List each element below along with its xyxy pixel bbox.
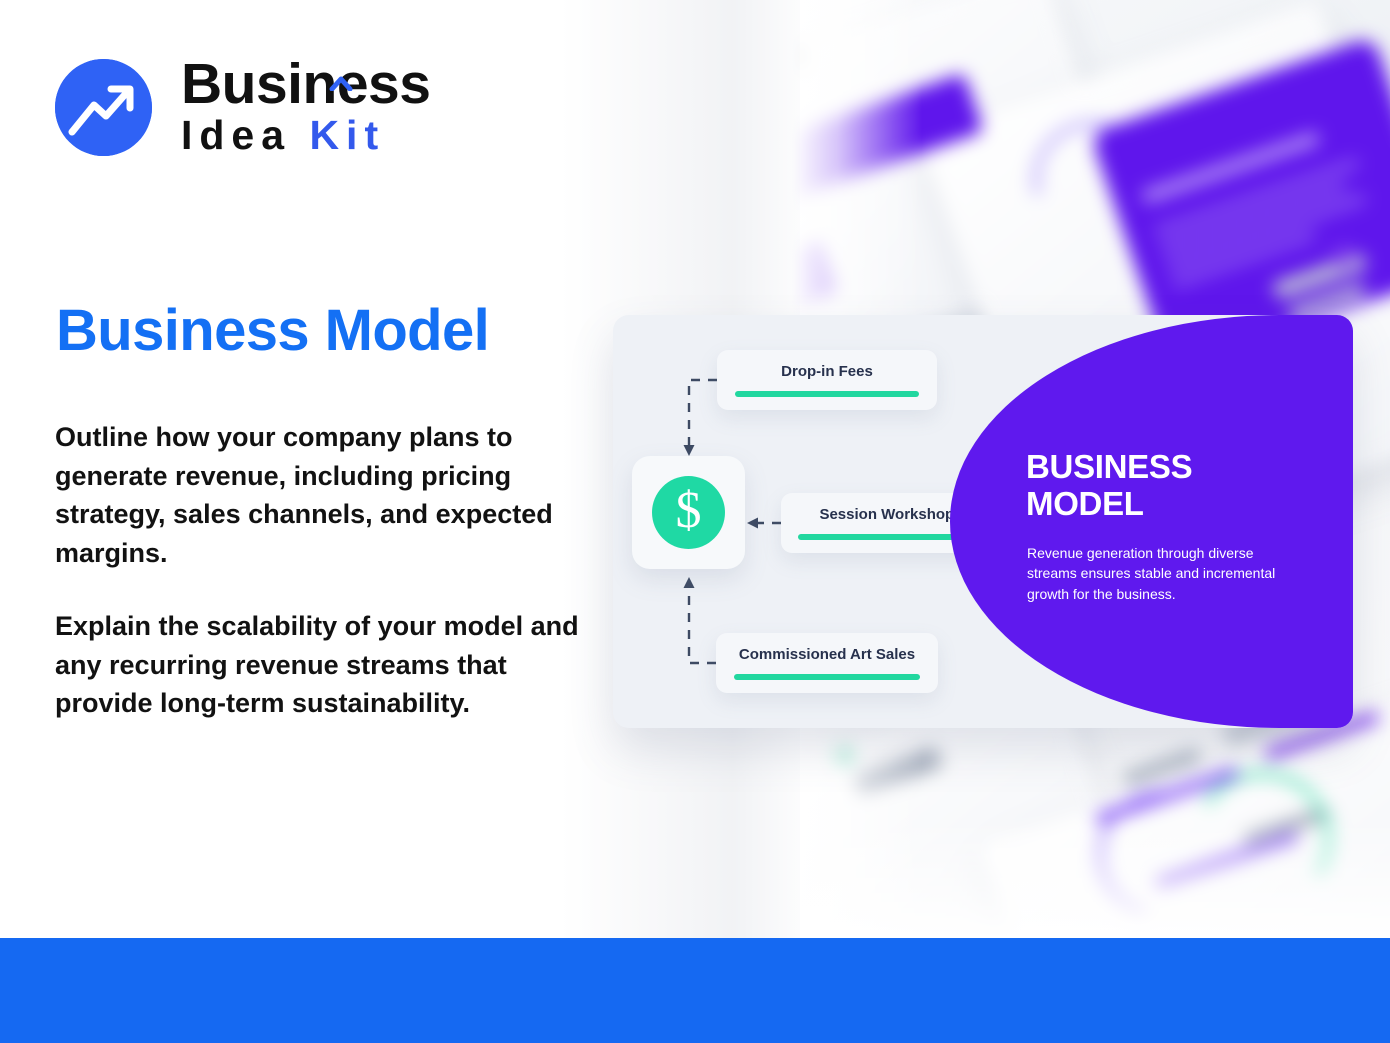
revenue-node-drop-in-fees[interactable]: Drop-in Fees: [717, 350, 937, 410]
footer-bar: [0, 938, 1390, 1043]
body-paragraph-2: Explain the scalability of your model an…: [55, 607, 595, 723]
card-panel-title-line-2: MODEL: [1026, 486, 1286, 523]
trend-up-circle-icon: [55, 59, 152, 156]
brand-wordmark: Business Idea Kit: [181, 57, 430, 158]
revenue-node-label: Session Workshops: [819, 506, 962, 523]
body-paragraph-1: Outline how your company plans to genera…: [55, 418, 590, 572]
card-panel-description: Revenue generation through diverse strea…: [1027, 543, 1280, 604]
brand-word-kit: Kit: [309, 112, 385, 158]
page-title: Business Model: [56, 297, 489, 364]
card-panel-title-line-1: BUSINESS: [1026, 449, 1286, 486]
dollar-symbol: $: [676, 485, 702, 537]
business-model-card: $ Drop-in Fees Session Workshops Commiss…: [613, 315, 1353, 728]
brand-word-business: Business: [181, 57, 430, 111]
slide-page: Business Idea Kit Business Model Outline…: [0, 0, 1390, 1043]
card-panel-title: BUSINESS MODEL: [1026, 449, 1286, 523]
revenue-node-bar: [735, 391, 919, 397]
dollar-sign-icon: $: [652, 476, 725, 549]
revenue-node-commissioned-art-sales[interactable]: Commissioned Art Sales: [716, 633, 938, 693]
brand-word-idea-kit: Idea Kit: [181, 113, 430, 158]
brand-word-idea: Idea: [181, 112, 291, 158]
bg-text-line: [1141, 132, 1320, 204]
brand-logo[interactable]: Business Idea Kit: [55, 57, 430, 158]
bg-text-line: [1154, 158, 1360, 237]
revenue-hub: $: [632, 456, 745, 569]
revenue-node-label: Commissioned Art Sales: [739, 646, 915, 663]
revenue-node-bar: [734, 674, 920, 680]
background-fade-bottom: [792, 818, 1390, 938]
revenue-node-label: Drop-in Fees: [781, 363, 873, 380]
brand-word-business-text: Business: [181, 52, 430, 116]
bg-purple-dot: [1332, 245, 1354, 267]
chevron-accent-icon: [329, 45, 353, 61]
